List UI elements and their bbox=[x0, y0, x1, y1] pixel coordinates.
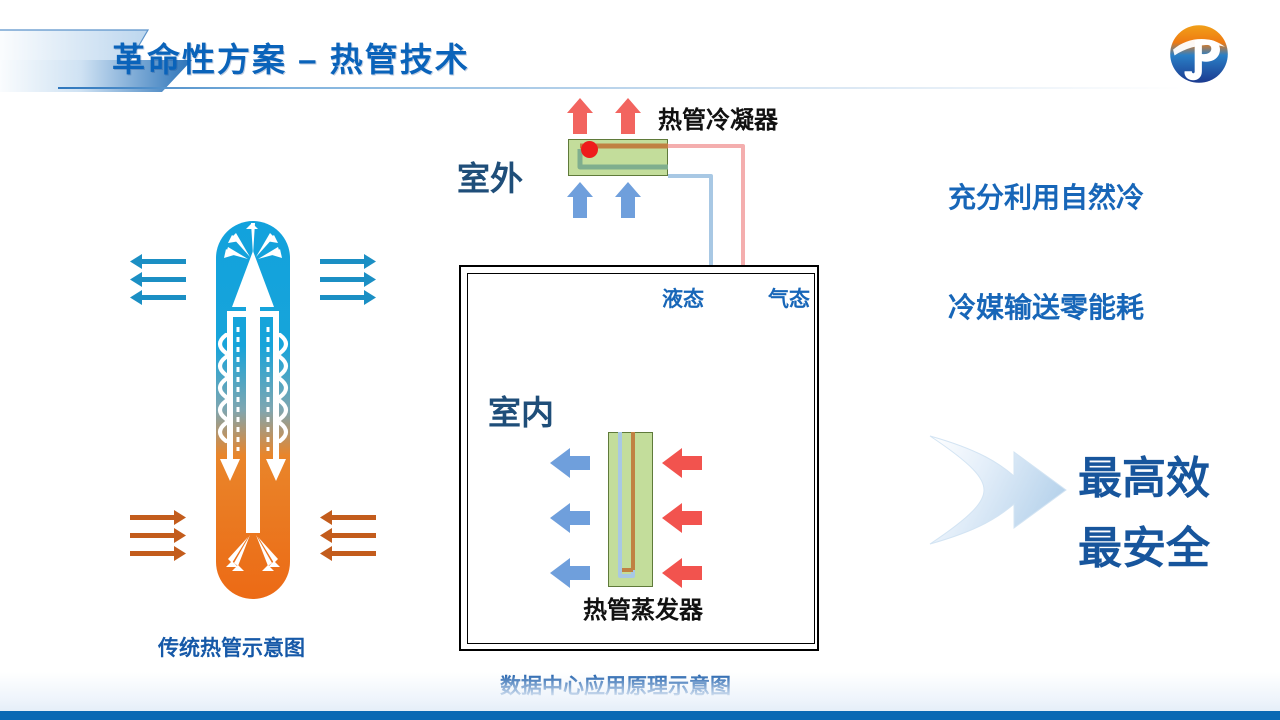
footer-gradient bbox=[0, 672, 1280, 712]
traditional-heat-pipe-figure bbox=[128, 215, 378, 605]
evaporator-label: 热管蒸发器 bbox=[583, 590, 703, 625]
company-logo-icon bbox=[1163, 18, 1235, 90]
indoor-hot-air-arrows bbox=[662, 448, 712, 593]
gas-state-label: 气态 bbox=[768, 283, 810, 313]
outdoor-label: 室外 bbox=[457, 152, 523, 200]
evaporator-internal-pipes bbox=[608, 432, 653, 587]
slide-canvas: 革命性方案 – 热管技术 bbox=[0, 0, 1280, 720]
condenser-intake-arrows bbox=[566, 182, 676, 222]
result-text-2: 最安全 bbox=[1078, 512, 1210, 576]
header-divider bbox=[58, 87, 1280, 89]
indoor-label: 室内 bbox=[488, 386, 554, 434]
benefit-text-2: 冷媒输送零能耗 bbox=[948, 286, 1144, 326]
page-title: 革命性方案 – 热管技术 bbox=[112, 33, 470, 81]
liquid-state-label: 液态 bbox=[662, 283, 704, 313]
condenser-label: 热管冷凝器 bbox=[658, 100, 778, 135]
benefit-text-1: 充分利用自然冷 bbox=[948, 176, 1144, 216]
hot-spot-marker bbox=[581, 141, 598, 158]
indoor-cold-air-arrows bbox=[550, 448, 600, 593]
result-text-1: 最高效 bbox=[1078, 442, 1210, 506]
data-center-diagram: 热管冷凝器 室外 室内 液态 气态 热管蒸发器 bbox=[440, 90, 840, 670]
conclusion-arrow-icon bbox=[928, 430, 1068, 550]
condenser-exhaust-arrows bbox=[566, 98, 676, 138]
footer-bar bbox=[0, 711, 1280, 720]
left-figure-caption: 传统热管示意图 bbox=[158, 632, 305, 662]
